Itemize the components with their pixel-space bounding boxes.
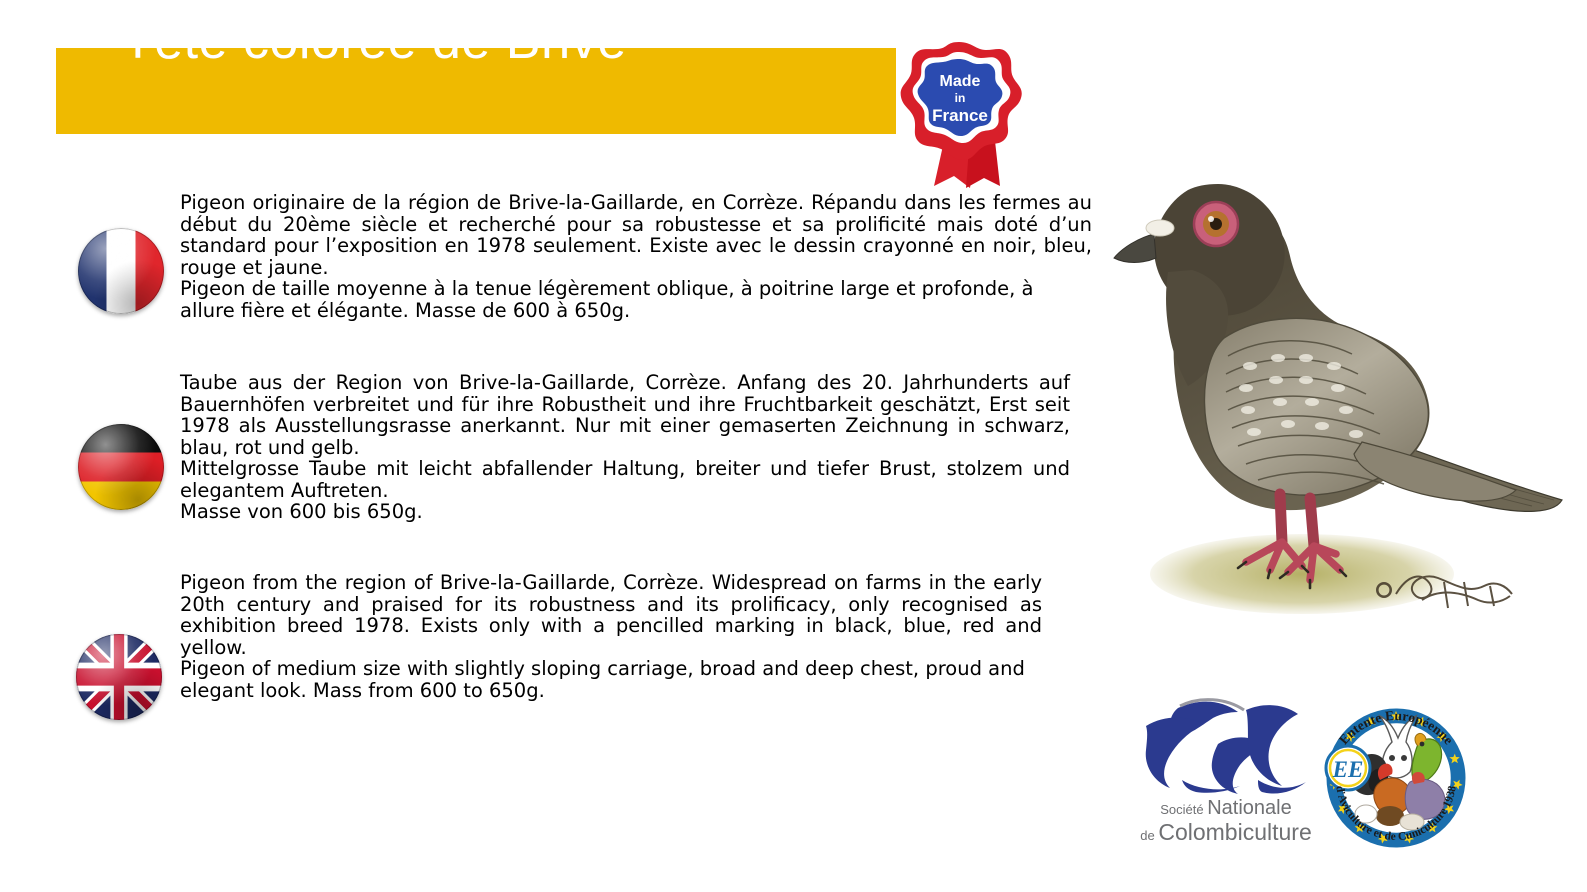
pigeon-illustration [1092, 142, 1570, 628]
rosette-line-france: France [932, 106, 988, 125]
paragraph-fr-1: Pigeon originaire de la région de Brive-… [180, 192, 1092, 278]
societe-nationale-colombiculture-logo: Société Nationale de Colombiculture [1126, 694, 1326, 852]
united-kingdom-flag-icon [76, 634, 162, 720]
text-block-german: Taube aus der Region von Brive-la-Gailla… [180, 372, 1070, 523]
flag-rim [76, 634, 162, 720]
paragraph-de-3: Masse von 600 bis 650g. [180, 501, 1070, 523]
rosette-line-in: in [955, 91, 966, 105]
wordmark-de: de [1140, 828, 1154, 843]
text-block-english: Pigeon from the region of Brive-la-Gaill… [180, 572, 1042, 701]
pigeon-beak [1114, 234, 1156, 263]
paragraph-de-2: Mittelgrosse Taube mit leicht abfallende… [180, 458, 1070, 501]
pigeon-primaries [1354, 442, 1516, 501]
entente-europeenne-logo: EE Entente Européenne d'Aviculture et de… [1314, 698, 1476, 852]
wordmark-societe: Société [1160, 802, 1203, 817]
flag-rim [78, 228, 164, 314]
ee-initials: EE [1332, 757, 1364, 782]
slide-canvas: Tête colorée de Brive Made in France [0, 0, 1587, 892]
text-block-french: Pigeon originaire de la région de Brive-… [180, 192, 1092, 321]
pigeon-cere [1146, 220, 1174, 236]
paragraph-fr-2: Pigeon de taille moyenne à la tenue légè… [180, 278, 1092, 321]
page-title: Tête colorée de Brive [122, 0, 627, 84]
pigeon-eye-glint [1208, 216, 1214, 222]
paragraph-de-1: Taube aus der Region von Brive-la-Gailla… [180, 372, 1070, 458]
ground-patch [1150, 534, 1454, 614]
rosette-line-made: Made [940, 73, 981, 90]
paragraph-en-1: Pigeon from the region of Brive-la-Gaill… [180, 572, 1042, 658]
made-in-france-badge: Made in France [894, 36, 1024, 196]
germany-flag-icon [78, 424, 164, 510]
wordmark-nationale: Nationale [1207, 797, 1292, 819]
colombiculture-wordmark: Société Nationale de Colombiculture [1126, 798, 1326, 848]
flag-rim [78, 424, 164, 510]
wordmark-colombiculture: Colombiculture [1158, 819, 1311, 845]
colombiculture-birds-mark [1126, 694, 1326, 798]
france-flag-icon [78, 228, 164, 314]
paragraph-en-2: Pigeon of medium size with slightly slop… [180, 658, 1042, 701]
